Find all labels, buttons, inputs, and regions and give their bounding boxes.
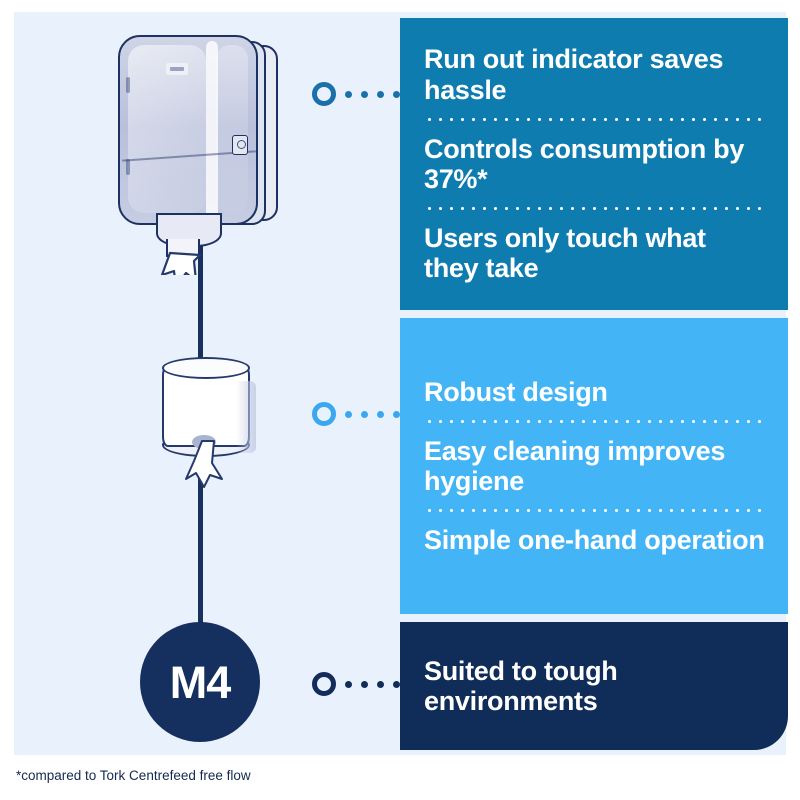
dispenser-hinge-lower: [126, 159, 130, 175]
dispenser-hinge-upper: [126, 77, 130, 93]
m4-badge-label: M4: [170, 660, 231, 705]
benefit-item: Run out indicator saves hassle: [424, 44, 766, 104]
benefits-panel-secondary: Robust design Easy cleaning improves hyg…: [400, 318, 788, 614]
benefit-separator: [424, 207, 766, 210]
connector-panel-1: [312, 82, 409, 106]
dispenser-illustration: [100, 25, 300, 275]
roll-shading: [236, 381, 256, 453]
connector-panel-3: [312, 672, 409, 696]
roll-core-opening: [192, 435, 216, 449]
footnote-text: *compared to Tork Centrefeed free flow: [16, 768, 251, 783]
benefit-item: Easy cleaning improves hygiene: [424, 436, 766, 496]
dispenser-right-cover: [216, 45, 248, 213]
connector-ring-2: [312, 402, 336, 426]
benefits-panel-primary: Run out indicator saves hassle Controls …: [400, 18, 788, 310]
lock-icon: [232, 135, 248, 155]
dispenser-paper-neck: [166, 239, 200, 257]
connector-ring-1: [312, 82, 336, 106]
benefit-item: Simple one-hand operation: [424, 525, 766, 555]
benefit-item: Suited to tough environments: [424, 656, 766, 716]
tork-logo-icon: [166, 63, 188, 75]
benefit-separator: [424, 118, 766, 121]
benefit-separator: [424, 420, 766, 423]
infographic-root: M4 Run out indicator saves hassle Contro…: [0, 0, 800, 800]
dispenser-highlight: [206, 41, 218, 219]
benefits-panel-tertiary: Suited to tough environments: [400, 622, 788, 750]
dispenser-body: [118, 35, 258, 225]
benefit-separator: [424, 509, 766, 512]
connector-panel-2: [312, 402, 409, 426]
paper-roll-illustration: [152, 355, 262, 500]
benefit-item: Users only touch what they take: [424, 223, 766, 283]
m4-system-badge: M4: [140, 622, 260, 742]
benefit-item: Robust design: [424, 377, 766, 407]
roll-top-face: [162, 357, 250, 379]
illustration-column: M4: [0, 0, 400, 760]
benefit-item: Controls consumption by 37%*: [424, 134, 766, 194]
connector-ring-3: [312, 672, 336, 696]
